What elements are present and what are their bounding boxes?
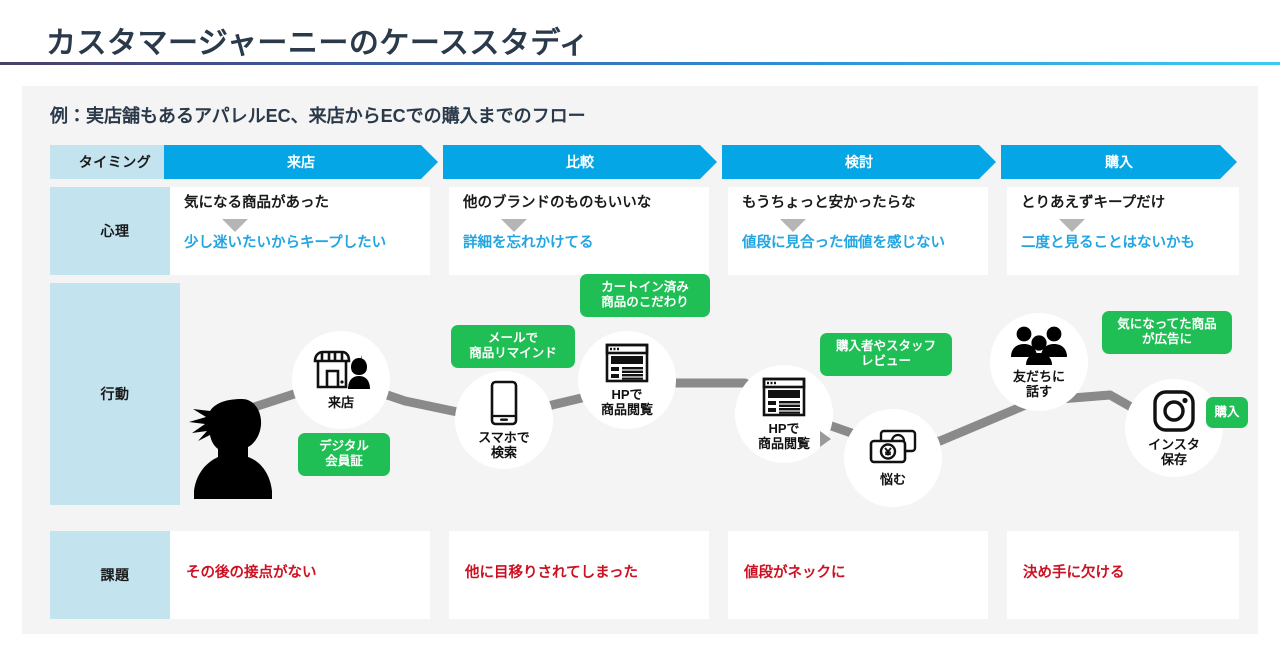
- action-node-hp-browse-1[interactable]: HPで 商品閲覧: [578, 331, 676, 429]
- mind-card-4: とりあえずキープだけ 二度と見ることはないかも: [1007, 187, 1239, 275]
- mind-bottom-text-4: 二度と見ることはないかも: [1021, 236, 1225, 252]
- mind-top-text-4: とりあえずキープだけ: [1021, 196, 1225, 212]
- mind-arrow-icon-3: [780, 219, 806, 232]
- issue-card-3: 値段がネックに: [728, 531, 988, 619]
- issue-text-1: その後の接点がない: [186, 561, 414, 582]
- connector-arrow-icon: [820, 431, 831, 447]
- issue-card-1: その後の接点がない: [170, 531, 430, 619]
- issue-card-2: 他に目移りされてしまった: [449, 531, 709, 619]
- mind-arrow-icon-1: [222, 219, 248, 232]
- mind-arrow-icon-4: [1059, 219, 1085, 232]
- action-node-smartphone-search[interactable]: スマホで 検索: [455, 371, 553, 469]
- webpage-icon: [605, 343, 649, 383]
- badge-purchase[interactable]: 購入: [1206, 397, 1248, 428]
- stage-chevron-1[interactable]: 来店: [164, 145, 438, 179]
- customer-journey-slide: カスタマージャーニーのケーススタディ 例：実店舗もあるアパレルEC、来店からEC…: [0, 0, 1280, 655]
- title-divider: [0, 62, 1280, 65]
- female-silhouette-icon: [180, 391, 272, 499]
- badge-cart-in-detail[interactable]: カートイン済み 商品のこだわり: [580, 274, 710, 317]
- stage-chevron-3[interactable]: 検討: [722, 145, 996, 179]
- mind-arrow-icon-2: [501, 219, 527, 232]
- action-node-label-hp-browse-1: HPで 商品閲覧: [601, 387, 653, 418]
- row-label-timing: タイミング: [50, 145, 180, 179]
- journey-board: 例：実店舗もあるアパレルEC、来店からECでの購入までのフロー タイミング 心理…: [22, 86, 1258, 634]
- issue-card-4: 決め手に欠ける: [1007, 531, 1239, 619]
- storefront-person-icon: [312, 349, 370, 391]
- badge-digital-membership[interactable]: デジタル 会員証: [298, 433, 390, 476]
- action-node-hp-browse-2[interactable]: HPで 商品閲覧: [735, 365, 833, 463]
- persona-silhouette: [180, 391, 272, 499]
- webpage-icon: [762, 377, 806, 417]
- issue-text-2: 他に目移りされてしまった: [465, 561, 693, 582]
- issue-text-4: 決め手に欠ける: [1023, 561, 1223, 582]
- action-node-label-talk-friends: 友だちに 話す: [1013, 369, 1065, 400]
- instagram-icon: [1152, 389, 1196, 433]
- action-node-store-visit[interactable]: 来店: [292, 331, 390, 429]
- row-label-action: 行動: [50, 283, 180, 505]
- row-label-issue: 課題: [50, 531, 180, 619]
- mind-bottom-text-1: 少し迷いたいからキープしたい: [184, 236, 416, 252]
- row-label-action-text: 行動: [101, 384, 130, 404]
- mind-card-3: もうちょっと安かったらな 値段に見合った価値を感じない: [728, 187, 988, 275]
- mind-bottom-text-2: 詳細を忘れかけてる: [463, 236, 695, 252]
- action-lane: 来店 スマホで 検索: [180, 283, 1230, 505]
- stage-chevron-2[interactable]: 比較: [443, 145, 717, 179]
- smartphone-icon: [489, 380, 519, 426]
- mind-bottom-text-3: 値段に見合った価値を感じない: [742, 236, 974, 252]
- mind-card-2: 他のブランドのものもいいな 詳細を忘れかけてる: [449, 187, 709, 275]
- badge-buyer-staff-review[interactable]: 購入者やスタッフ レビュー: [820, 333, 952, 376]
- action-node-talk-friends[interactable]: 友だちに 話す: [990, 313, 1088, 411]
- mind-top-text-1: 気になる商品があった: [184, 196, 416, 212]
- row-label-mind: 心理: [50, 187, 180, 275]
- people-group-icon: [1010, 325, 1068, 365]
- action-node-label-instagram-save: インスタ 保存: [1148, 437, 1200, 468]
- stage-chevron-4[interactable]: 購入: [1001, 145, 1237, 179]
- banknote-yen-icon: [867, 428, 919, 468]
- mind-top-text-2: 他のブランドのものもいいな: [463, 196, 695, 212]
- issue-text-3: 値段がネックに: [744, 561, 972, 582]
- mind-card-1: 気になる商品があった 少し迷いたいからキープしたい: [170, 187, 430, 275]
- board-caption: 例：実店舗もあるアパレルEC、来店からECでの購入までのフロー: [50, 102, 586, 128]
- action-node-label-smartphone-search: スマホで 検索: [478, 430, 530, 461]
- badge-email-reminder[interactable]: メールで 商品リマインド: [451, 325, 575, 368]
- page-title: カスタマージャーニーのケーススタディ: [46, 18, 589, 62]
- badge-interested-ad[interactable]: 気になってた商品 が広告に: [1102, 311, 1232, 354]
- mind-top-text-3: もうちょっと安かったらな: [742, 196, 974, 212]
- action-node-instagram-save[interactable]: インスタ 保存: [1125, 379, 1223, 477]
- action-node-label-worry: 悩む: [880, 472, 906, 487]
- action-node-worry[interactable]: 悩む: [844, 409, 942, 507]
- action-node-label-hp-browse-2: HPで 商品閲覧: [758, 421, 810, 452]
- action-node-label-store-visit: 来店: [328, 395, 354, 410]
